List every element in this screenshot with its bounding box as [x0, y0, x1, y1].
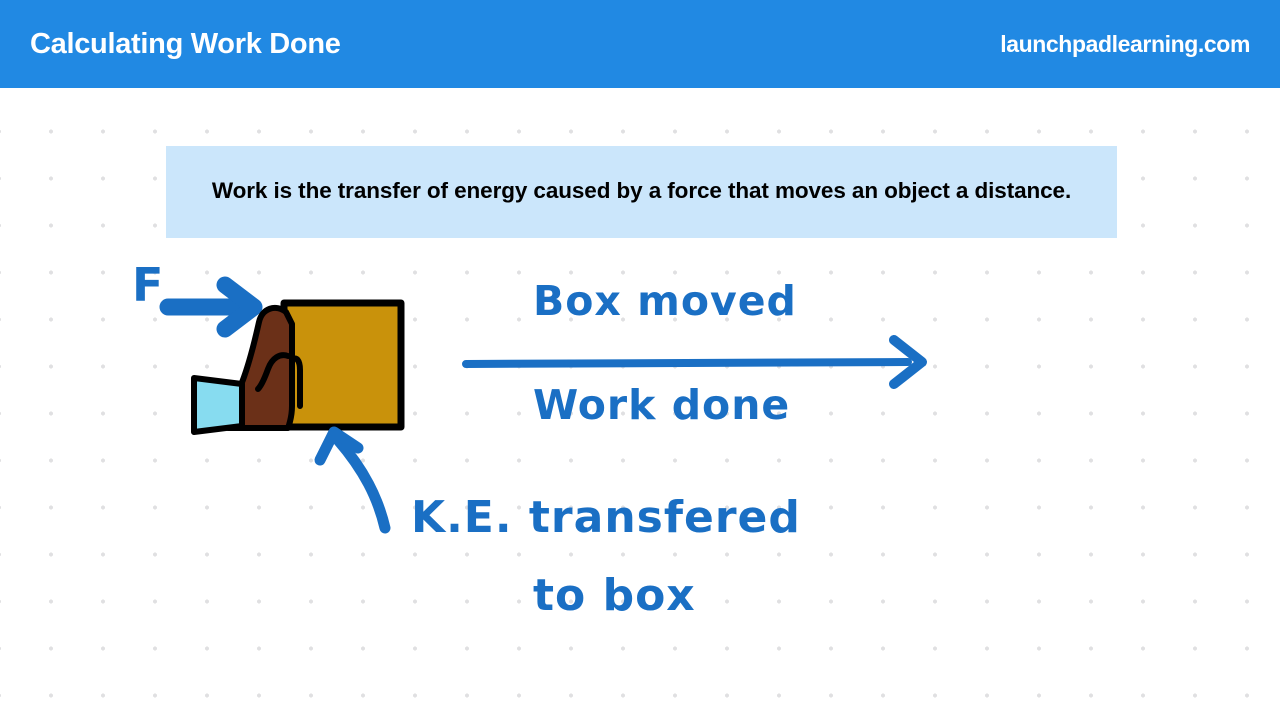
displacement-arrow-icon — [466, 340, 922, 384]
ke-transferred-label-line1: K.E. transfered — [411, 492, 801, 543]
sleeve-shape — [194, 378, 242, 432]
box-moved-label: Box moved — [533, 277, 797, 325]
slide: Calculating Work Done launchpadlearning.… — [0, 0, 1280, 720]
ke-transferred-label-line2: to box — [533, 570, 696, 621]
slide-header: Calculating Work Done launchpadlearning.… — [0, 0, 1280, 88]
page-title: Calculating Work Done — [30, 28, 341, 61]
site-url-label: launchpadlearning.com — [1000, 31, 1250, 58]
force-label: F — [132, 258, 163, 312]
force-arrow-icon — [168, 285, 254, 329]
work-done-label: Work done — [533, 381, 790, 429]
ke-curved-arrow-icon — [320, 432, 385, 528]
